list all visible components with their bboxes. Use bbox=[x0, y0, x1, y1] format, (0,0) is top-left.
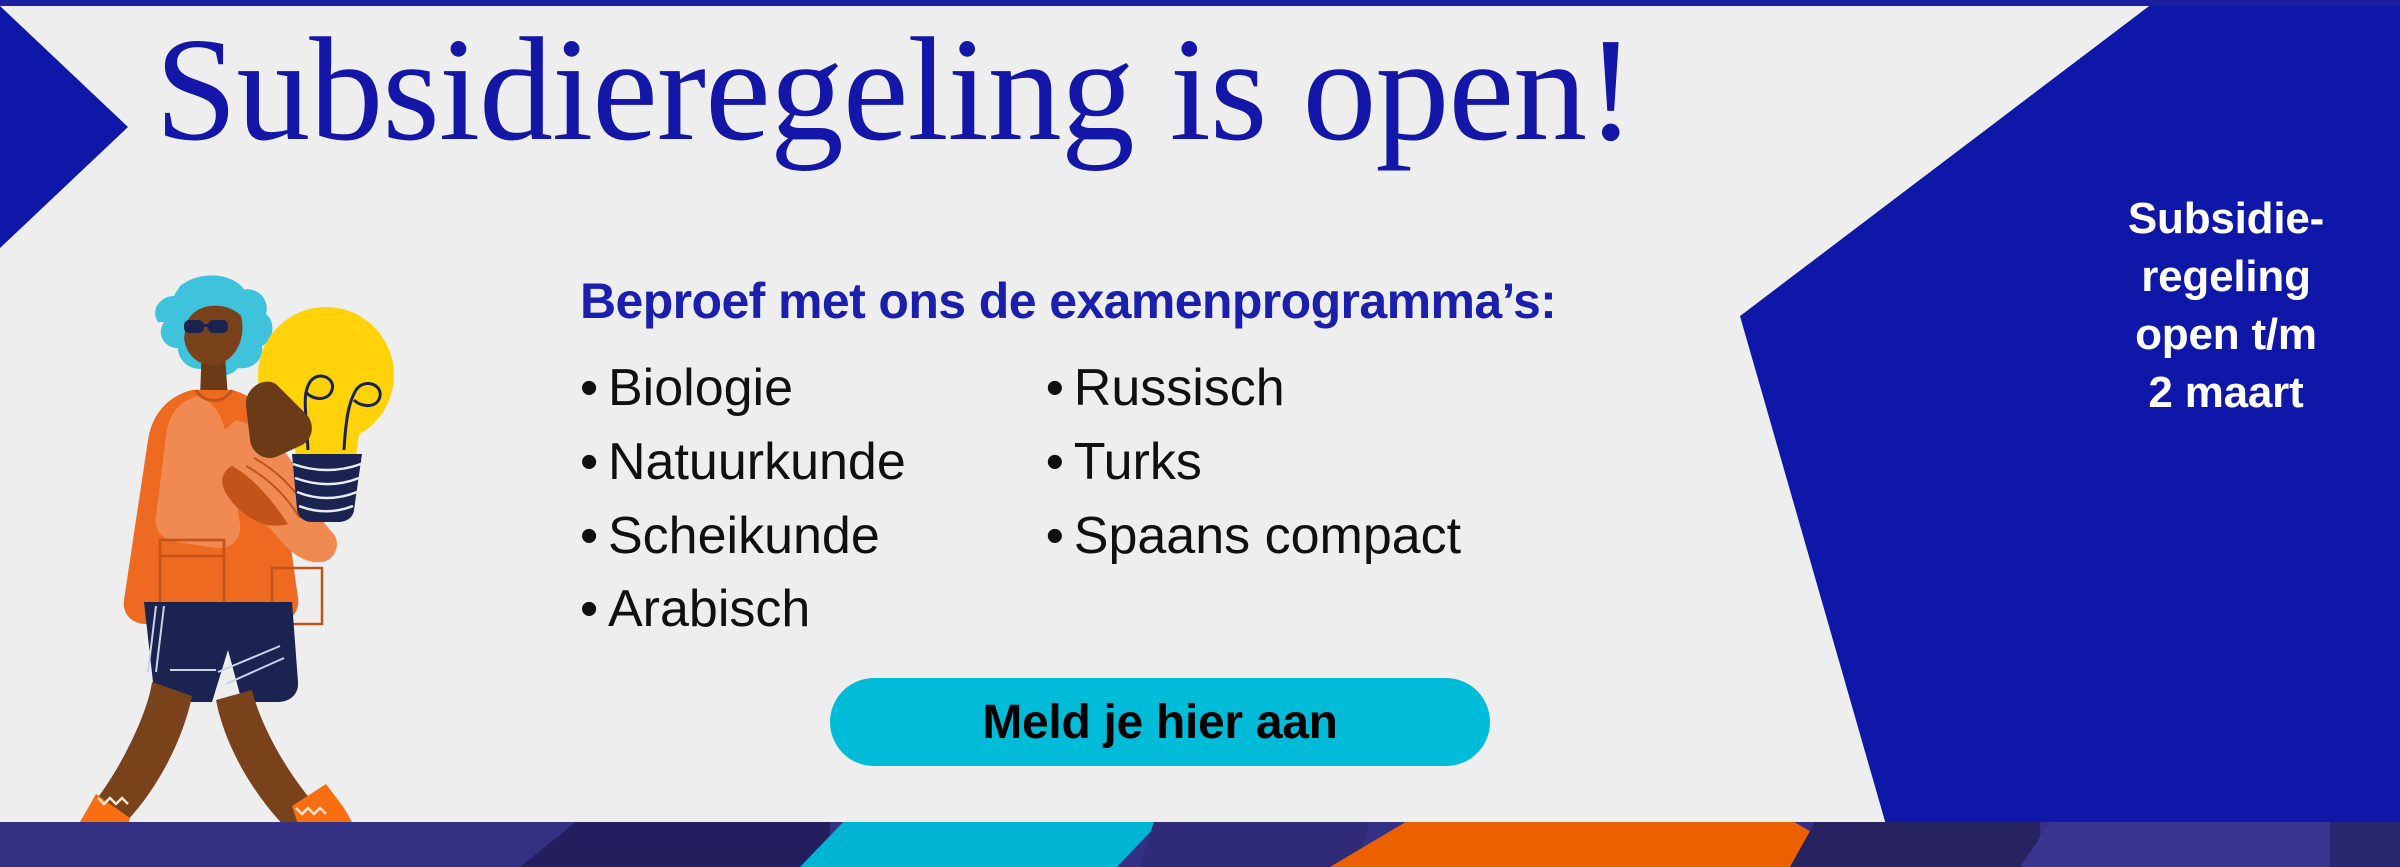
shorts-shape bbox=[144, 602, 298, 702]
list-item-label: Arabisch bbox=[608, 573, 810, 647]
list-item: • Arabisch bbox=[580, 573, 906, 647]
bullet-icon: • bbox=[1046, 426, 1074, 500]
list-item-label: Russisch bbox=[1074, 352, 1285, 426]
list-item: • Russisch bbox=[1046, 352, 1461, 426]
bullet-icon: • bbox=[580, 573, 608, 647]
subheading: Beproef met ons de examenprogramma’s: bbox=[580, 272, 1556, 330]
list-item-label: Turks bbox=[1074, 426, 1202, 500]
lightbulb-base bbox=[292, 454, 362, 522]
bullet-icon: • bbox=[1046, 352, 1074, 426]
list-item: • Scheikunde bbox=[580, 500, 906, 574]
leg-left-shape bbox=[96, 682, 192, 822]
list-item: • Natuurkunde bbox=[580, 426, 906, 500]
badge-line-4: 2 maart bbox=[2076, 364, 2376, 422]
list-item: • Biologie bbox=[580, 352, 906, 426]
programs-column-left: • Biologie • Natuurkunde • Scheikunde • … bbox=[580, 352, 906, 647]
badge-line-1: Subsidie- bbox=[2076, 190, 2376, 248]
programs-column-right: • Russisch • Turks • Spaans compact bbox=[1046, 352, 1461, 647]
strip-block-cyan bbox=[800, 822, 1160, 867]
top-border-rule bbox=[0, 0, 2400, 6]
promo-banner: Subsidieregeling is open! bbox=[0, 0, 2400, 867]
strip-block-navy-1 bbox=[520, 822, 830, 867]
bullet-icon: • bbox=[1046, 500, 1074, 574]
programs-lists: • Biologie • Natuurkunde • Scheikunde • … bbox=[580, 352, 1461, 647]
strip-block-navy-2 bbox=[1790, 822, 2040, 867]
strip-block-edge bbox=[2330, 822, 2400, 867]
strip-block-orange bbox=[1330, 822, 1870, 867]
illustration-svg bbox=[40, 250, 400, 822]
list-item: • Spaans compact bbox=[1046, 500, 1461, 574]
list-item-label: Scheikunde bbox=[608, 500, 880, 574]
list-item: • Turks bbox=[1046, 426, 1461, 500]
person-with-lightbulb-illustration bbox=[40, 250, 400, 822]
list-item-label: Natuurkunde bbox=[608, 426, 906, 500]
list-item-label: Spaans compact bbox=[1074, 500, 1461, 574]
signup-button[interactable]: Meld je hier aan bbox=[830, 678, 1490, 766]
deadline-badge-text: Subsidie- regeling open t/m 2 maart bbox=[2076, 190, 2376, 422]
bullet-icon: • bbox=[580, 426, 608, 500]
page-title: Subsidieregeling is open! bbox=[155, 16, 1634, 164]
badge-line-3: open t/m bbox=[2076, 306, 2376, 364]
strip-block-purple-mid bbox=[1140, 822, 1370, 867]
bullet-icon: • bbox=[580, 500, 608, 574]
list-item-label: Biologie bbox=[608, 352, 793, 426]
badge-line-2: regeling bbox=[2076, 248, 2376, 306]
bullet-icon: • bbox=[580, 352, 608, 426]
bottom-decorative-strip bbox=[0, 822, 2400, 867]
